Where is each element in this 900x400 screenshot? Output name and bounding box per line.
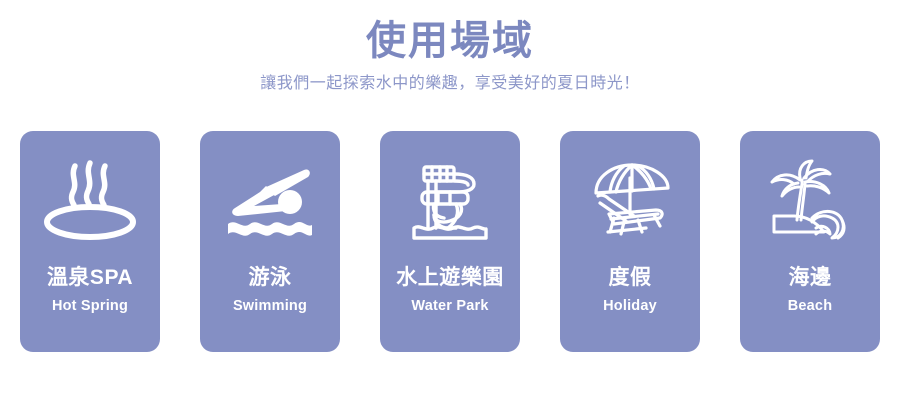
card-label-en: Water Park bbox=[380, 298, 520, 315]
card-labels: 海邊 Beach bbox=[740, 265, 880, 316]
card-label-zh: 游泳 bbox=[200, 265, 340, 291]
card-label-en: Beach bbox=[740, 298, 880, 315]
scenario-card-water-park[interactable]: 水上遊樂園 Water Park bbox=[380, 131, 520, 352]
card-label-zh: 度假 bbox=[560, 265, 700, 291]
card-label-en: Swimming bbox=[200, 298, 340, 315]
card-label-zh: 水上遊樂園 bbox=[380, 265, 520, 291]
card-label-zh: 溫泉SPA bbox=[20, 265, 160, 291]
section-header: 使用場域 讓我們一起探索水中的樂趣，享受美好的夏日時光！ bbox=[0, 0, 900, 95]
card-labels: 溫泉SPA Hot Spring bbox=[20, 265, 160, 316]
card-label-en: Hot Spring bbox=[20, 298, 160, 315]
scenario-card-hot-spring[interactable]: 溫泉SPA Hot Spring bbox=[20, 131, 160, 352]
water-slide-icon bbox=[400, 157, 500, 249]
page-subtitle: 讓我們一起探索水中的樂趣，享受美好的夏日時光！ bbox=[0, 74, 900, 95]
hot-spring-icon bbox=[40, 157, 140, 249]
scenario-card-list: 溫泉SPA Hot Spring bbox=[20, 131, 880, 352]
card-labels: 度假 Holiday bbox=[560, 265, 700, 316]
card-labels: 游泳 Swimming bbox=[200, 265, 340, 316]
page-title: 使用場域 bbox=[0, 18, 900, 64]
umbrella-lounger-icon bbox=[580, 157, 680, 249]
usage-scenarios-section: 使用場域 讓我們一起探索水中的樂趣，享受美好的夏日時光！ 溫泉SPA bbox=[0, 0, 900, 400]
swimmer-icon bbox=[220, 157, 320, 249]
card-labels: 水上遊樂園 Water Park bbox=[380, 265, 520, 316]
card-label-en: Holiday bbox=[560, 298, 700, 315]
scenario-card-holiday[interactable]: 度假 Holiday bbox=[560, 131, 700, 352]
card-label-zh: 海邊 bbox=[740, 265, 880, 291]
scenario-card-beach[interactable]: 海邊 Beach bbox=[740, 131, 880, 352]
scenario-card-swimming[interactable]: 游泳 Swimming bbox=[200, 131, 340, 352]
palm-tree-wave-icon bbox=[760, 157, 860, 249]
